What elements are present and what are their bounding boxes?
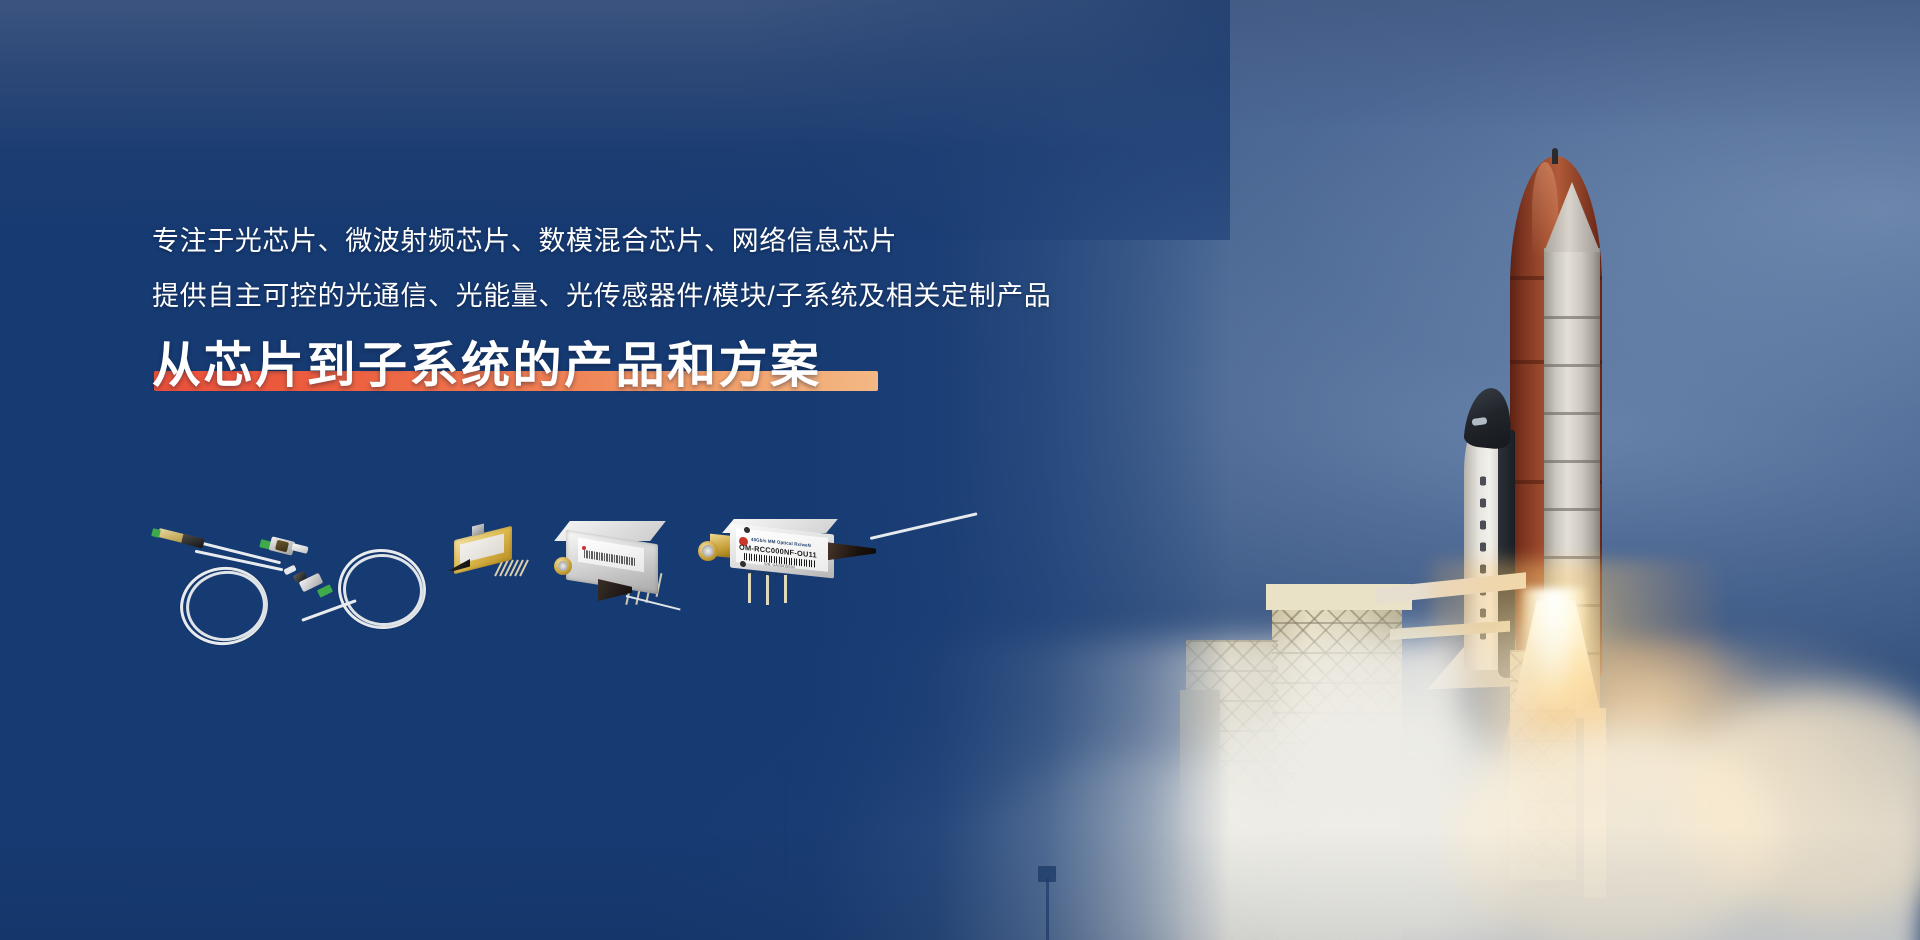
banner-copy: 专注于光芯片、微波射频芯片、数模混合芯片、网络信息芯片 提供自主可控的光通信、光…	[152, 228, 1152, 397]
booster-segment-seam	[1544, 364, 1600, 367]
headline-wrap: 从芯片到子系统的产品和方案	[152, 340, 822, 397]
receiver-fiber-boot	[828, 539, 876, 563]
sma-center-pin	[702, 545, 714, 557]
receiver-pin	[766, 575, 769, 605]
page-title: 从芯片到子系统的产品和方案	[152, 340, 822, 393]
butterfly-pin-row	[498, 559, 528, 583]
booster-segment-seam	[1544, 460, 1600, 463]
tagline-line-2: 提供自主可控的光通信、光能量、光传感器件/模块/子系统及相关定制产品	[152, 283, 1152, 310]
connector-boot	[181, 533, 205, 548]
product-butterfly-laser-package	[448, 523, 524, 593]
receiver-pin	[784, 575, 787, 603]
module-fiber-pigtail	[626, 595, 681, 610]
tank-tip	[1552, 148, 1558, 164]
connector-tail	[291, 543, 308, 554]
booster-segment-seam	[1544, 316, 1600, 319]
connector-green-sleeve	[317, 584, 333, 597]
receiver-screw	[744, 527, 750, 534]
product-rf-optical-module	[554, 521, 672, 605]
module-logo-dot	[582, 546, 586, 550]
hero-banner: 专注于光芯片、微波射频芯片、数模混合芯片、网络信息芯片 提供自主可控的光通信、光…	[0, 0, 1920, 940]
sma-center-pin	[558, 561, 568, 571]
product-optical-receiver-module: 40Gb/s MM Optical Rx/weN OM-RCC000NF-OU1…	[710, 517, 890, 613]
receiver-pin	[748, 573, 751, 603]
tagline-line-1: 专注于光芯片、微波射频芯片、数模混合芯片、网络信息芯片	[152, 228, 1152, 255]
product-showcase: 40Gb/s MM Optical Rx/weN OM-RCC000NF-OU1…	[150, 525, 980, 670]
booster-segment-seam	[1544, 412, 1600, 415]
navy-overlay-top-gradient	[0, 0, 1230, 240]
booster-segment-seam	[1544, 508, 1600, 511]
receiver-screw	[740, 561, 746, 568]
orbiter-nose-cone	[1463, 386, 1515, 450]
